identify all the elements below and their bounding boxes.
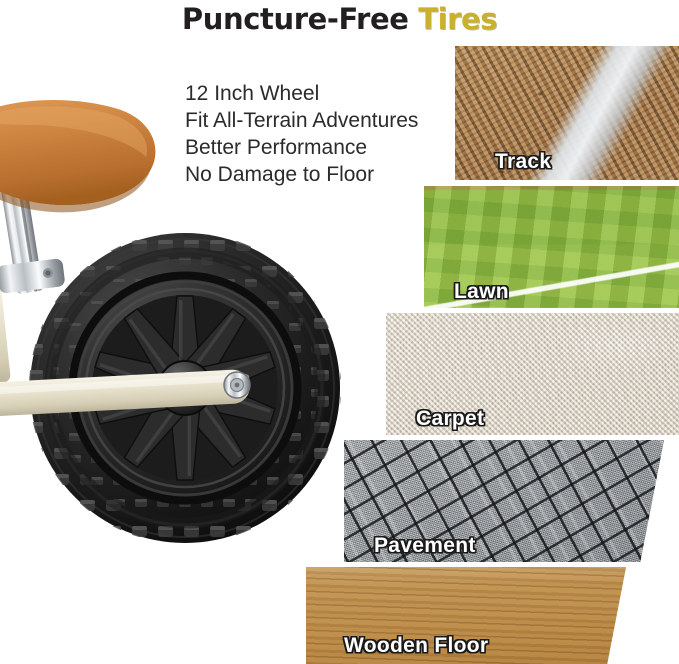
terrain-panel-track: Track: [455, 46, 679, 180]
feature-item-1: 12 Inch Wheel: [185, 80, 418, 107]
fork-blade: [0, 286, 11, 384]
feature-item-4: No Damage to Floor: [185, 161, 418, 188]
terrain-label-lawn: Lawn: [454, 280, 509, 304]
feature-item-2: Fit All-Terrain Adventures: [185, 107, 418, 134]
bike-saddle: [0, 100, 155, 212]
terrain-panel-lawn: Lawn: [424, 186, 679, 308]
product-feature-graphic: Puncture-Free Tires 12 Inch Wheel Fit Al…: [0, 0, 679, 664]
terrain-panel-wooden-floor: Wooden Floor: [306, 567, 679, 664]
terrain-label-track: Track: [495, 150, 551, 174]
terrain-label-wooden-floor: Wooden Floor: [344, 634, 488, 658]
feature-list: 12 Inch Wheel Fit All-Terrain Adventures…: [185, 80, 418, 188]
axle-bolt: [224, 372, 250, 398]
title-accent-text: Tires: [418, 2, 497, 36]
seat-clamp: [0, 258, 65, 294]
panel-skew-frame: [455, 46, 679, 180]
terrain-label-pavement: Pavement: [374, 534, 476, 558]
feature-item-3: Better Performance: [185, 134, 418, 161]
track-texture-image: [455, 46, 679, 180]
page-title: Puncture-Free Tires: [0, 2, 679, 36]
title-primary-text: Puncture-Free: [182, 2, 418, 36]
terrain-label-carpet: Carpet: [416, 407, 484, 431]
terrain-panel-pavement: Pavement: [344, 440, 679, 562]
terrain-panel-carpet: Carpet: [386, 313, 679, 435]
